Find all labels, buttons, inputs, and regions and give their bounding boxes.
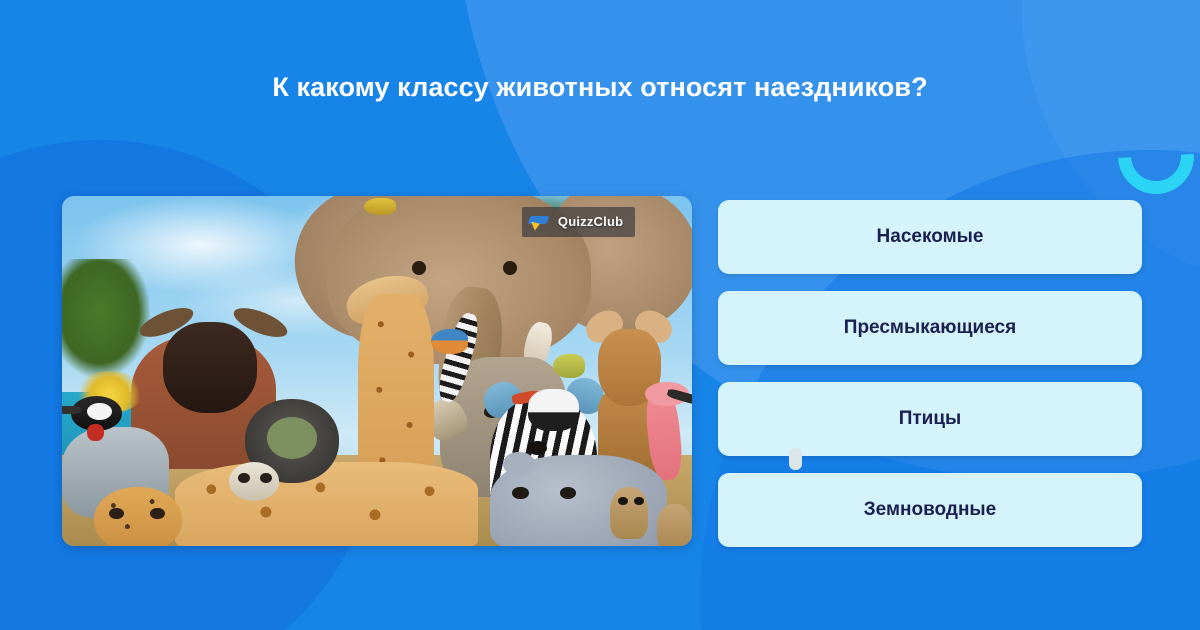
answer-option-1[interactable]: Насекомые	[718, 200, 1142, 274]
wildebeest-face	[163, 322, 258, 413]
animal-collage-illustration	[62, 196, 692, 546]
scroll-indicator-nub[interactable]	[789, 448, 802, 470]
bird-on-elephant	[364, 198, 396, 216]
hippopotamus-eye-left	[512, 487, 528, 500]
quizzclub-watermark: QuizzClub	[522, 207, 635, 237]
answer-option-2-label: Пресмыкающиеся	[844, 317, 1016, 339]
giraffe-body	[175, 462, 477, 546]
answer-option-3[interactable]: Птицы	[718, 382, 1142, 456]
answer-option-3-label: Птицы	[899, 408, 962, 430]
crowned-crane-beak	[62, 406, 81, 414]
blue-bird	[431, 329, 469, 354]
gorilla-face	[267, 417, 317, 459]
answer-option-4[interactable]: Земноводные	[718, 473, 1142, 547]
meerkat-first	[610, 487, 648, 540]
answer-options-list: Насекомые Пресмыкающиеся Птицы Земноводн…	[718, 200, 1142, 547]
answer-option-2[interactable]: Пресмыкающиеся	[718, 291, 1142, 365]
lemur-eye-right	[260, 473, 271, 484]
hornbill-bird	[528, 389, 578, 431]
graduation-cap-icon	[528, 211, 550, 233]
answer-option-4-label: Земноводные	[864, 499, 996, 521]
yellow-bird	[553, 354, 585, 379]
question-image: QuizzClub	[62, 196, 692, 546]
crowned-crane-cheek	[87, 403, 112, 421]
crowned-crane-wattle	[87, 424, 103, 442]
elephant-eye-left	[412, 261, 426, 275]
hippopotamus-eye-right	[560, 487, 576, 500]
lemur-eye-left	[238, 473, 249, 484]
answer-option-1-label: Насекомые	[877, 226, 984, 248]
zebra-eye	[528, 441, 547, 455]
meerkat-second	[657, 504, 692, 546]
leopard-cub-head	[94, 487, 182, 547]
watermark-brand-label: QuizzClub	[558, 214, 623, 229]
elephant-eye-right	[503, 261, 517, 275]
hippopotamus-ear	[503, 452, 535, 477]
question-title: К какому классу животных относят наездни…	[0, 72, 1200, 103]
acacia-tree-left	[62, 259, 150, 378]
lemur-head	[229, 462, 279, 501]
